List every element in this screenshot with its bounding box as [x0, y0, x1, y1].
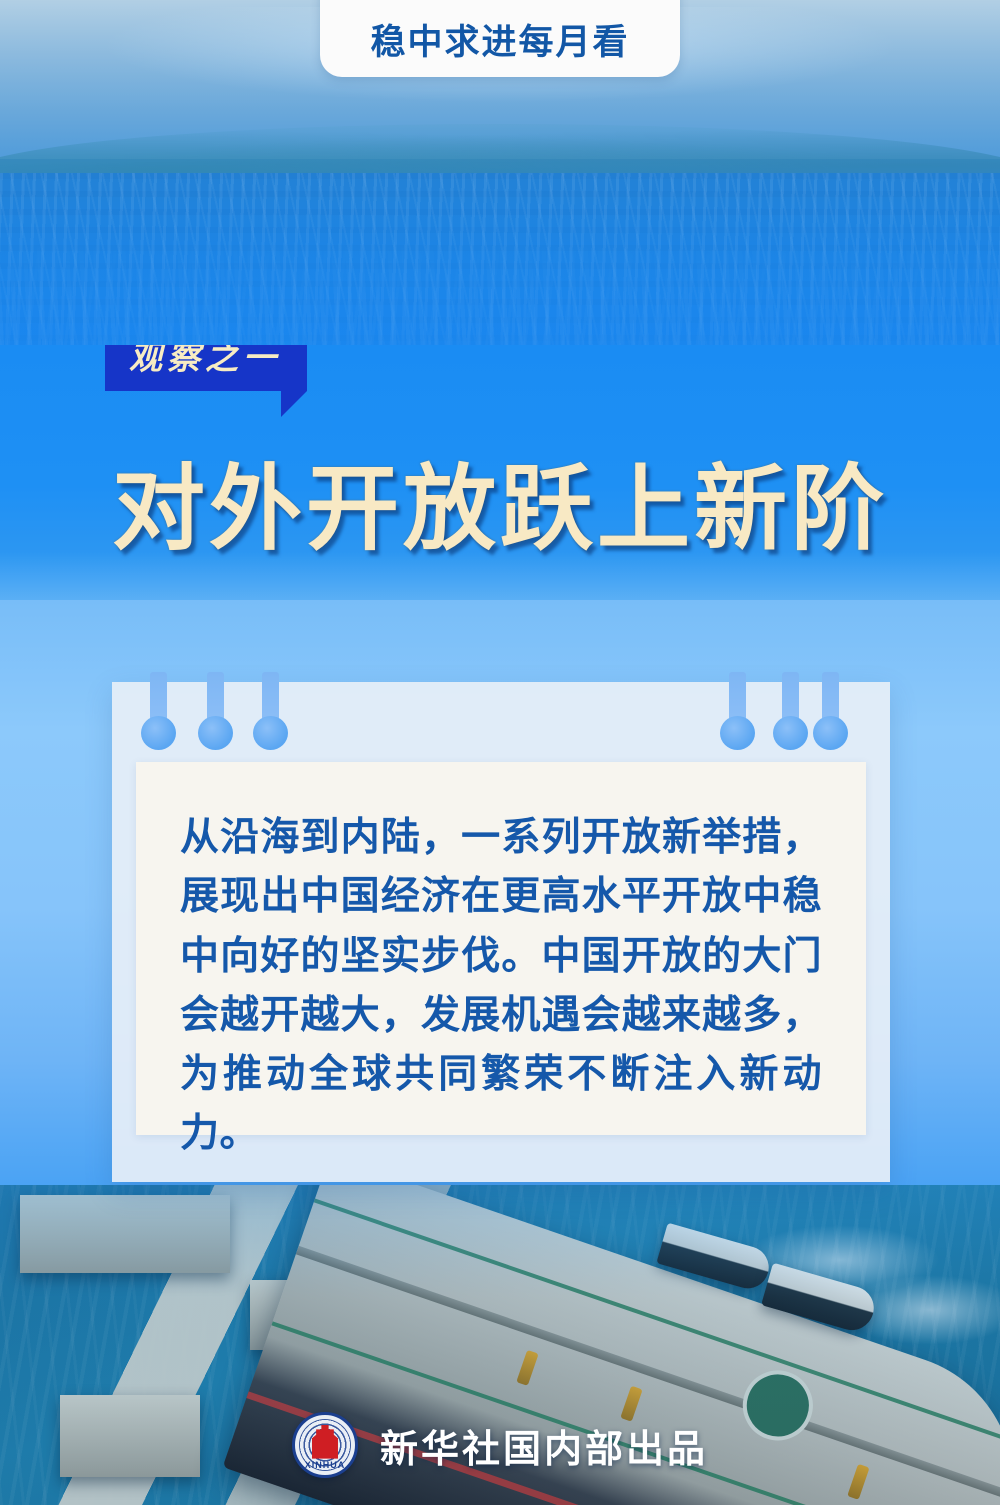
binder-pin-icon — [782, 672, 799, 734]
poster-root: 稳中求进每月看 观察之一 对外开放跃上新阶 — [0, 0, 1000, 1505]
note-body-text: 从沿海到内陆，一系列开放新举措，展现出中国经济在更高水平开放中稳中向好的坚实步伐… — [180, 808, 822, 1164]
page-title: 对外开放跃上新阶 — [0, 433, 1000, 568]
binder-pin-icon — [262, 672, 279, 734]
binder-pin-icon — [822, 672, 839, 734]
binder-pin-icon — [207, 672, 224, 734]
kicker-banner: 观察之一 — [105, 345, 307, 391]
note-card-inner-panel: 从沿海到内陆，一系列开放新举措，展现出中国经济在更高水平开放中稳中向好的坚实步伐… — [136, 762, 866, 1135]
logo-wordmark: XINHUA — [295, 1460, 355, 1470]
series-badge-tab[interactable]: 稳中求进每月看 — [320, 0, 680, 77]
footer-credit-label: 新华社国内部出品 — [380, 1418, 708, 1473]
band-sheen — [0, 552, 1000, 600]
title-band: 观察之一 对外开放跃上新阶 — [0, 345, 1000, 600]
kicker-label: 观察之一 — [129, 345, 281, 377]
binder-pin-icon — [729, 672, 746, 734]
note-card: 从沿海到内陆，一系列开放新举措，展现出中国经济在更高水平开放中稳中向好的坚实步伐… — [112, 682, 890, 1182]
footer: XINHUA 新华社国内部出品 — [0, 1405, 1000, 1485]
binder-pin-icon — [150, 672, 167, 734]
series-badge-label: 稳中求进每月看 — [370, 14, 629, 65]
xinhua-logo-icon: XINHUA — [292, 1412, 358, 1478]
